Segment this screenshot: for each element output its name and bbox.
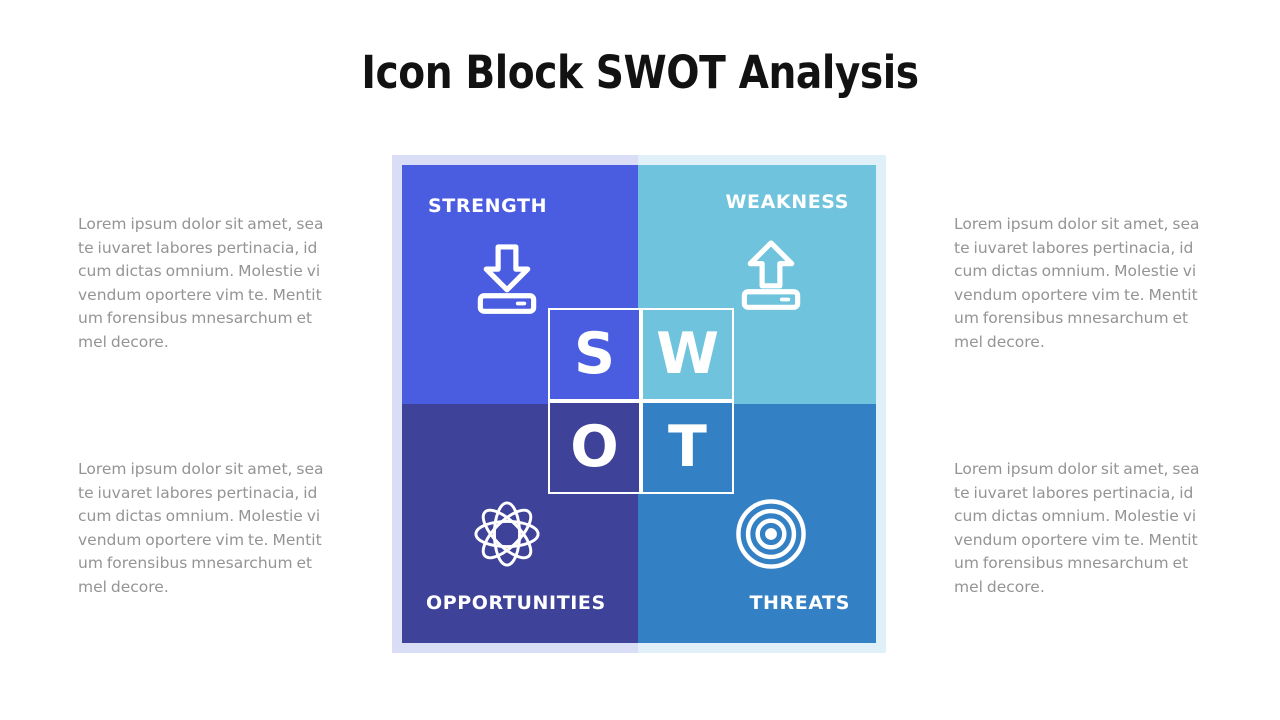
bullseye-icon (734, 497, 808, 571)
quadrant-label-strength: STRENGTH (428, 195, 547, 217)
download-icon (470, 241, 544, 315)
quadrant-label-threats: THREATS (749, 592, 850, 614)
swot-letter-o: O (548, 401, 641, 494)
slide-canvas: Icon Block SWOT Analysis Lorem ipsum dol… (0, 0, 1280, 720)
swot-center-letters: S W O T (548, 308, 734, 494)
description-weakness: Lorem ipsum dolor sit amet, sea te iuvar… (954, 213, 1206, 354)
quadrant-label-weakness: WEAKNESS (725, 191, 849, 213)
description-opportunities: Lorem ipsum dolor sit amet, sea te iuvar… (78, 458, 330, 599)
quadrant-label-opportunities: OPPORTUNITIES (426, 592, 606, 614)
upload-icon (734, 237, 808, 311)
swot-letter-w: W (641, 308, 734, 401)
description-threats: Lorem ipsum dolor sit amet, sea te iuvar… (954, 458, 1206, 599)
description-strength: Lorem ipsum dolor sit amet, sea te iuvar… (78, 213, 330, 354)
page-title: Icon Block SWOT Analysis (83, 46, 1197, 99)
atom-icon (470, 497, 544, 571)
swot-letter-s: S (548, 308, 641, 401)
swot-letter-t: T (641, 401, 734, 494)
